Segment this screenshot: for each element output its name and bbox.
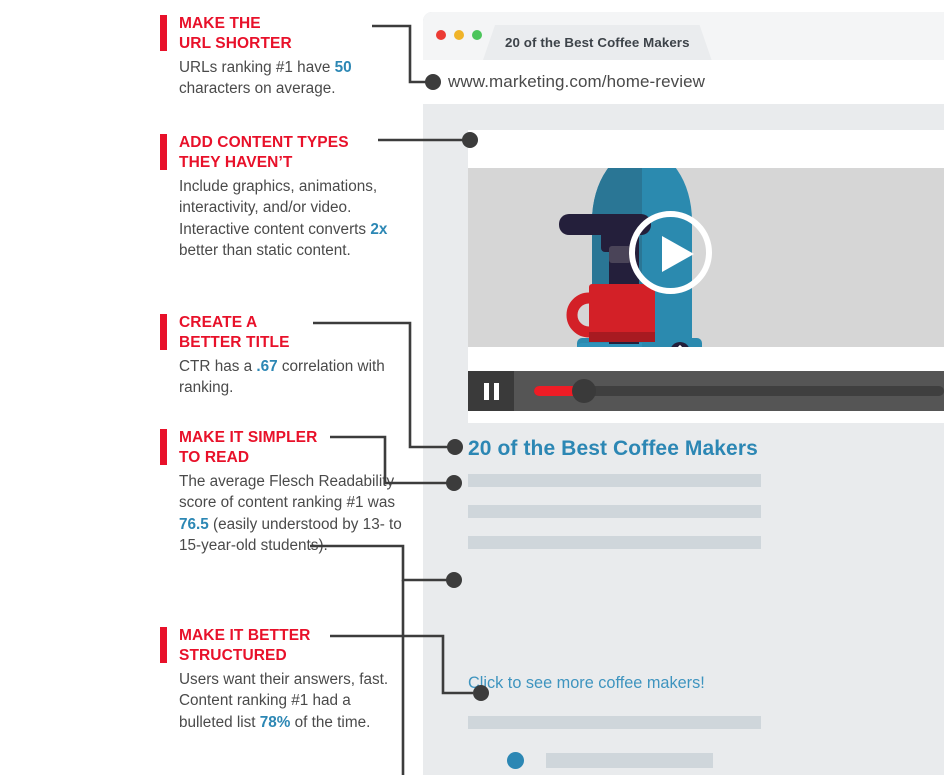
tip-url-shorter: MAKE THEURL SHORTER URLs ranking #1 have… — [160, 14, 405, 100]
tip-better-title: CREATE ABETTER TITLE CTR has a .67 corre… — [160, 313, 405, 399]
page-viewport: 20 of the Best Coffee Makers Click to se… — [423, 104, 944, 775]
pause-icon — [494, 383, 499, 400]
tip-stat: 78% — [260, 714, 291, 731]
browser-chrome-bar: 20 of the Best Coffee Makers — [423, 12, 944, 60]
tip-heading: CREATE ABETTER TITLE — [160, 313, 405, 352]
tip-body: The average Flesch Readability score of … — [160, 471, 405, 556]
article-headline[interactable]: 20 of the Best Coffee Makers — [468, 437, 758, 461]
more-coffee-makers-link[interactable]: Click to see more coffee makers! — [468, 674, 705, 693]
tip-body: Include graphics, animations, interactiv… — [160, 176, 405, 261]
window-traffic-lights — [436, 30, 482, 40]
video-stage[interactable] — [468, 168, 944, 347]
skeleton-line — [468, 505, 761, 518]
tip-stat: 76.5 — [179, 516, 209, 533]
tip-content-types: ADD CONTENT TYPESTHEY HAVEN’T Include gr… — [160, 133, 405, 261]
pause-button[interactable] — [468, 371, 514, 411]
skeleton-line — [546, 753, 713, 768]
tip-heading: MAKE IT SIMPLERTO READ — [160, 428, 405, 467]
tip-body: Users want their answers, fast. Content … — [160, 669, 405, 733]
tip-stat: 2x — [370, 221, 387, 238]
pause-icon — [484, 383, 489, 400]
tip-heading: MAKE IT BETTERSTRUCTURED — [160, 626, 405, 665]
tip-body: URLs ranking #1 have 50 characters on av… — [160, 57, 405, 100]
progress-handle[interactable] — [572, 379, 596, 403]
address-bar-url: www.marketing.com/home-review — [448, 72, 705, 92]
tip-heading: MAKE THEURL SHORTER — [160, 14, 405, 53]
video-progress-slider[interactable] — [534, 386, 944, 396]
tip-stat: .67 — [256, 358, 277, 375]
maximize-dot-green-icon[interactable] — [472, 30, 482, 40]
skeleton-line — [468, 536, 761, 549]
tip-body: CTR has a .67 correlation with ranking. — [160, 356, 405, 399]
minimize-dot-yellow-icon[interactable] — [454, 30, 464, 40]
bullet-dot-icon — [507, 752, 524, 769]
skeleton-line — [468, 716, 761, 729]
close-dot-red-icon[interactable] — [436, 30, 446, 40]
bulleted-list — [507, 749, 807, 775]
browser-address-bar[interactable]: www.marketing.com/home-review — [423, 60, 944, 104]
list-item — [507, 749, 807, 775]
infographic-stage: 20 of the Best Coffee Makers www.marketi… — [0, 0, 944, 775]
video-card — [468, 130, 944, 423]
skeleton-line — [468, 474, 761, 487]
tip-heading: ADD CONTENT TYPESTHEY HAVEN’T — [160, 133, 405, 172]
browser-tab[interactable]: 20 of the Best Coffee Makers — [483, 25, 712, 60]
tip-better-structured: MAKE IT BETTERSTRUCTURED Users want thei… — [160, 626, 405, 733]
page-content-column: 20 of the Best Coffee Makers Click to se… — [468, 104, 944, 775]
play-icon — [662, 236, 694, 272]
play-button-overlay[interactable] — [629, 211, 712, 294]
video-controls-bar — [468, 371, 944, 411]
tip-stat: 50 — [335, 59, 352, 76]
browser-window-mockup: 20 of the Best Coffee Makers www.marketi… — [423, 12, 944, 775]
tip-simpler-to-read: MAKE IT SIMPLERTO READ The average Flesc… — [160, 428, 405, 556]
